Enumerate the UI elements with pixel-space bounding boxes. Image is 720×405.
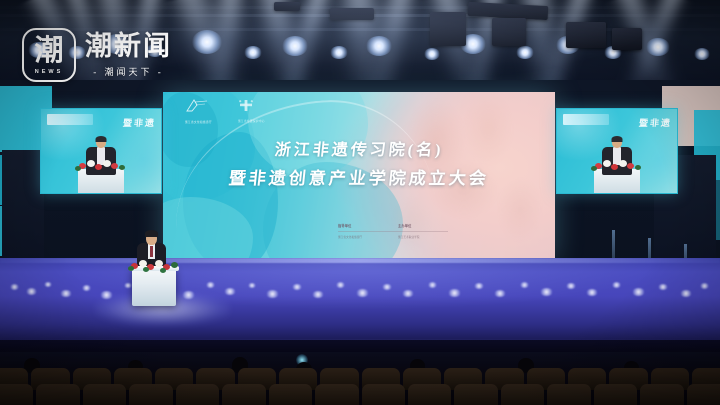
logo-character: 潮 bbox=[34, 37, 63, 66]
event-title-line1: 浙江非遗传习院(名) bbox=[273, 136, 444, 160]
seat bbox=[222, 384, 265, 405]
stage-lip bbox=[0, 258, 720, 263]
emblem-bird-icon: 浙江省文化和旅游厅 bbox=[185, 98, 212, 124]
seat bbox=[129, 384, 172, 405]
divider bbox=[338, 231, 448, 232]
seat bbox=[0, 384, 33, 405]
screen-emblems: 浙江省文化和旅游厅 浙江省非遗保护中心 bbox=[185, 98, 265, 124]
seat bbox=[269, 384, 312, 405]
speaker-at-podium bbox=[124, 228, 196, 306]
stage-photograph: 浙江省文化和旅游厅 浙江省非遗保护中心 浙江非遗传习院(名) 暨非遗创意产业学院… bbox=[0, 0, 720, 405]
feed-flowers bbox=[591, 157, 643, 173]
seat-row bbox=[0, 384, 720, 405]
main-led-backdrop: 浙江省文化和旅游厅 浙江省非遗保护中心 浙江非遗传习院(名) 暨非遗创意产业学院… bbox=[163, 92, 555, 260]
seat bbox=[687, 384, 720, 405]
brand-logo-icon: 潮 NEWS bbox=[22, 28, 76, 82]
audience-seating bbox=[0, 352, 720, 405]
feed-flowers bbox=[75, 157, 127, 173]
feed-banner bbox=[47, 114, 93, 125]
news-watermark: 潮 NEWS 潮新闻 - 潮闻天下 - bbox=[22, 28, 172, 82]
seat bbox=[36, 384, 79, 405]
emblem-caption-left: 浙江省文化和旅游厅 bbox=[185, 120, 212, 124]
sponsor-body: 浙江艺术职业学院 bbox=[398, 235, 448, 239]
seat bbox=[454, 384, 497, 405]
sponsor-heading: 指导单位 bbox=[338, 223, 388, 228]
seat bbox=[362, 384, 405, 405]
sponsor-heading: 主办单位 bbox=[398, 223, 448, 228]
seat bbox=[315, 384, 358, 405]
brand-name: 潮新闻 bbox=[85, 32, 172, 60]
event-title-line2: 暨非遗创意产业学院成立大会 bbox=[228, 164, 491, 189]
seat bbox=[83, 384, 126, 405]
side-screen-caption-left: 暨非遗 bbox=[122, 116, 156, 129]
seat bbox=[176, 384, 219, 405]
seat bbox=[408, 384, 451, 405]
podium-flowers bbox=[128, 256, 180, 273]
brand-tagline: - 潮闻天下 - bbox=[85, 65, 172, 78]
side-screen-caption-right: 暨非遗 bbox=[638, 116, 672, 129]
seat bbox=[640, 384, 683, 405]
speaker-hair bbox=[145, 230, 158, 237]
emblem-seal-icon: 浙江省非遗保护中心 bbox=[238, 99, 265, 123]
seat bbox=[594, 384, 637, 405]
podium bbox=[132, 268, 176, 306]
feed-banner bbox=[563, 114, 609, 125]
side-led-screen-left: 暨非遗 bbox=[40, 108, 162, 194]
emblem-caption-right: 浙江省非遗保护中心 bbox=[238, 119, 265, 123]
event-title: 浙江非遗传习院(名) 暨非遗创意产业学院成立大会 bbox=[163, 136, 555, 189]
logo-news-label: NEWS bbox=[35, 69, 64, 75]
side-led-screen-right: 暨非遗 bbox=[556, 108, 678, 194]
sponsor-body: 浙江省文化和旅游厅 bbox=[338, 235, 388, 239]
seat bbox=[547, 384, 590, 405]
sponsor-credits: 指导单位 主办单位 浙江省文化和旅游厅 浙江艺术职业学院 bbox=[338, 223, 448, 239]
seat bbox=[501, 384, 544, 405]
